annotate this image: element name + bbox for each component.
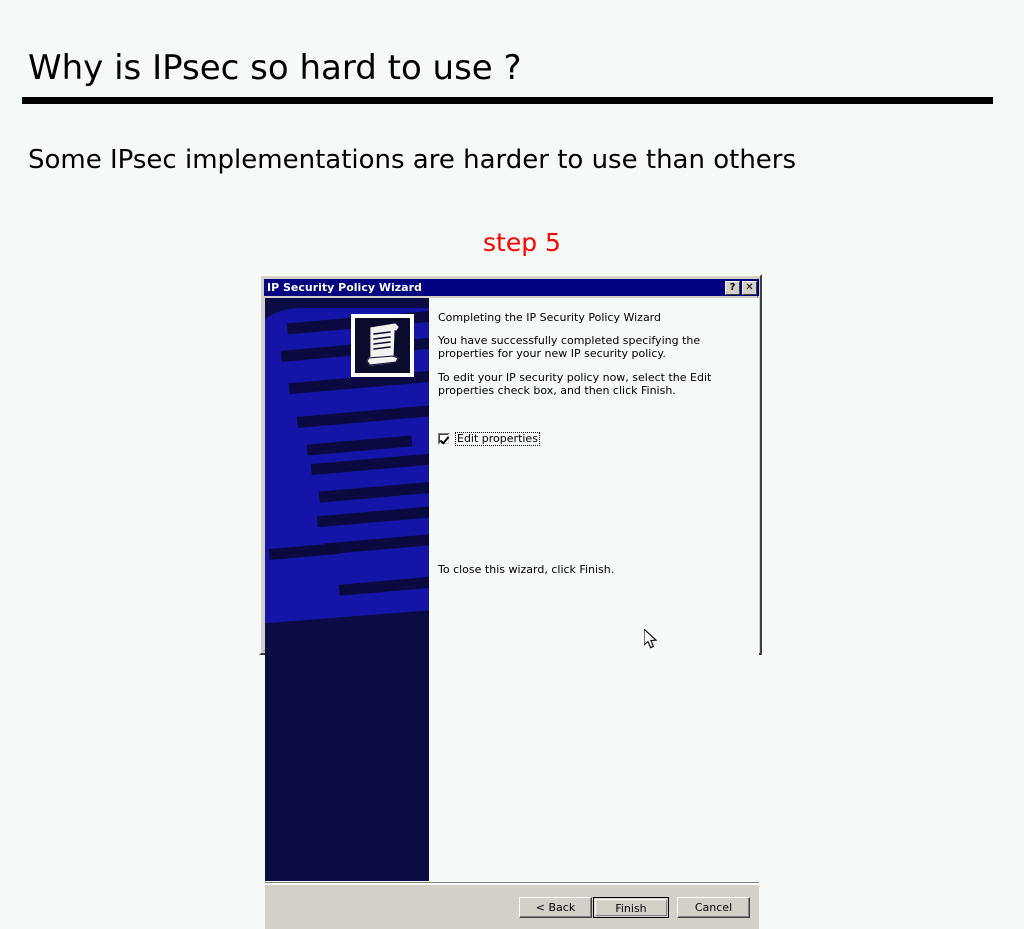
step-caption-text: step 5 (483, 228, 561, 257)
close-icon[interactable]: ✕ (742, 281, 757, 295)
wizard-content-panel: Completing the IP Security Policy Wizard… (429, 298, 759, 881)
wizard-heading: Completing the IP Security Policy Wizard (438, 311, 661, 324)
finish-button[interactable]: Finish (593, 897, 669, 918)
title-underline-rule (22, 97, 993, 104)
slide-subtitle: Some IPsec implementations are harder to… (28, 145, 796, 175)
edit-properties-checkbox-row[interactable]: Edit properties (438, 432, 540, 446)
cancel-button[interactable]: Cancel (677, 897, 750, 918)
edit-properties-checkbox[interactable] (438, 433, 450, 445)
scroll-document-icon (355, 318, 410, 373)
dialog-titlebar[interactable]: IP Security Policy Wizard ? ✕ (264, 279, 759, 296)
button-bar-separator (265, 882, 759, 884)
wizard-paragraph-2: To edit your IP security policy now, sel… (438, 371, 738, 397)
wizard-icon-frame (351, 314, 414, 377)
step-caption: step 5 (0, 228, 1024, 257)
wizard-watermark-panel (265, 298, 429, 881)
finish-button-label: Finish (595, 899, 667, 916)
dialog-button-bar: < Back Finish Cancel (265, 885, 759, 929)
dialog-title-text: IP Security Policy Wizard (267, 279, 422, 296)
wizard-closing-text: To close this wizard, click Finish. (438, 563, 614, 576)
help-icon[interactable]: ? (725, 281, 740, 295)
wizard-paragraph-1: You have successfully completed specifyi… (438, 334, 738, 360)
back-button[interactable]: < Back (519, 897, 592, 918)
page-title: Why is IPsec so hard to use ? (28, 48, 522, 88)
ip-security-policy-wizard-dialog: IP Security Policy Wizard ? ✕ (259, 274, 762, 655)
edit-properties-label[interactable]: Edit properties (455, 432, 540, 446)
